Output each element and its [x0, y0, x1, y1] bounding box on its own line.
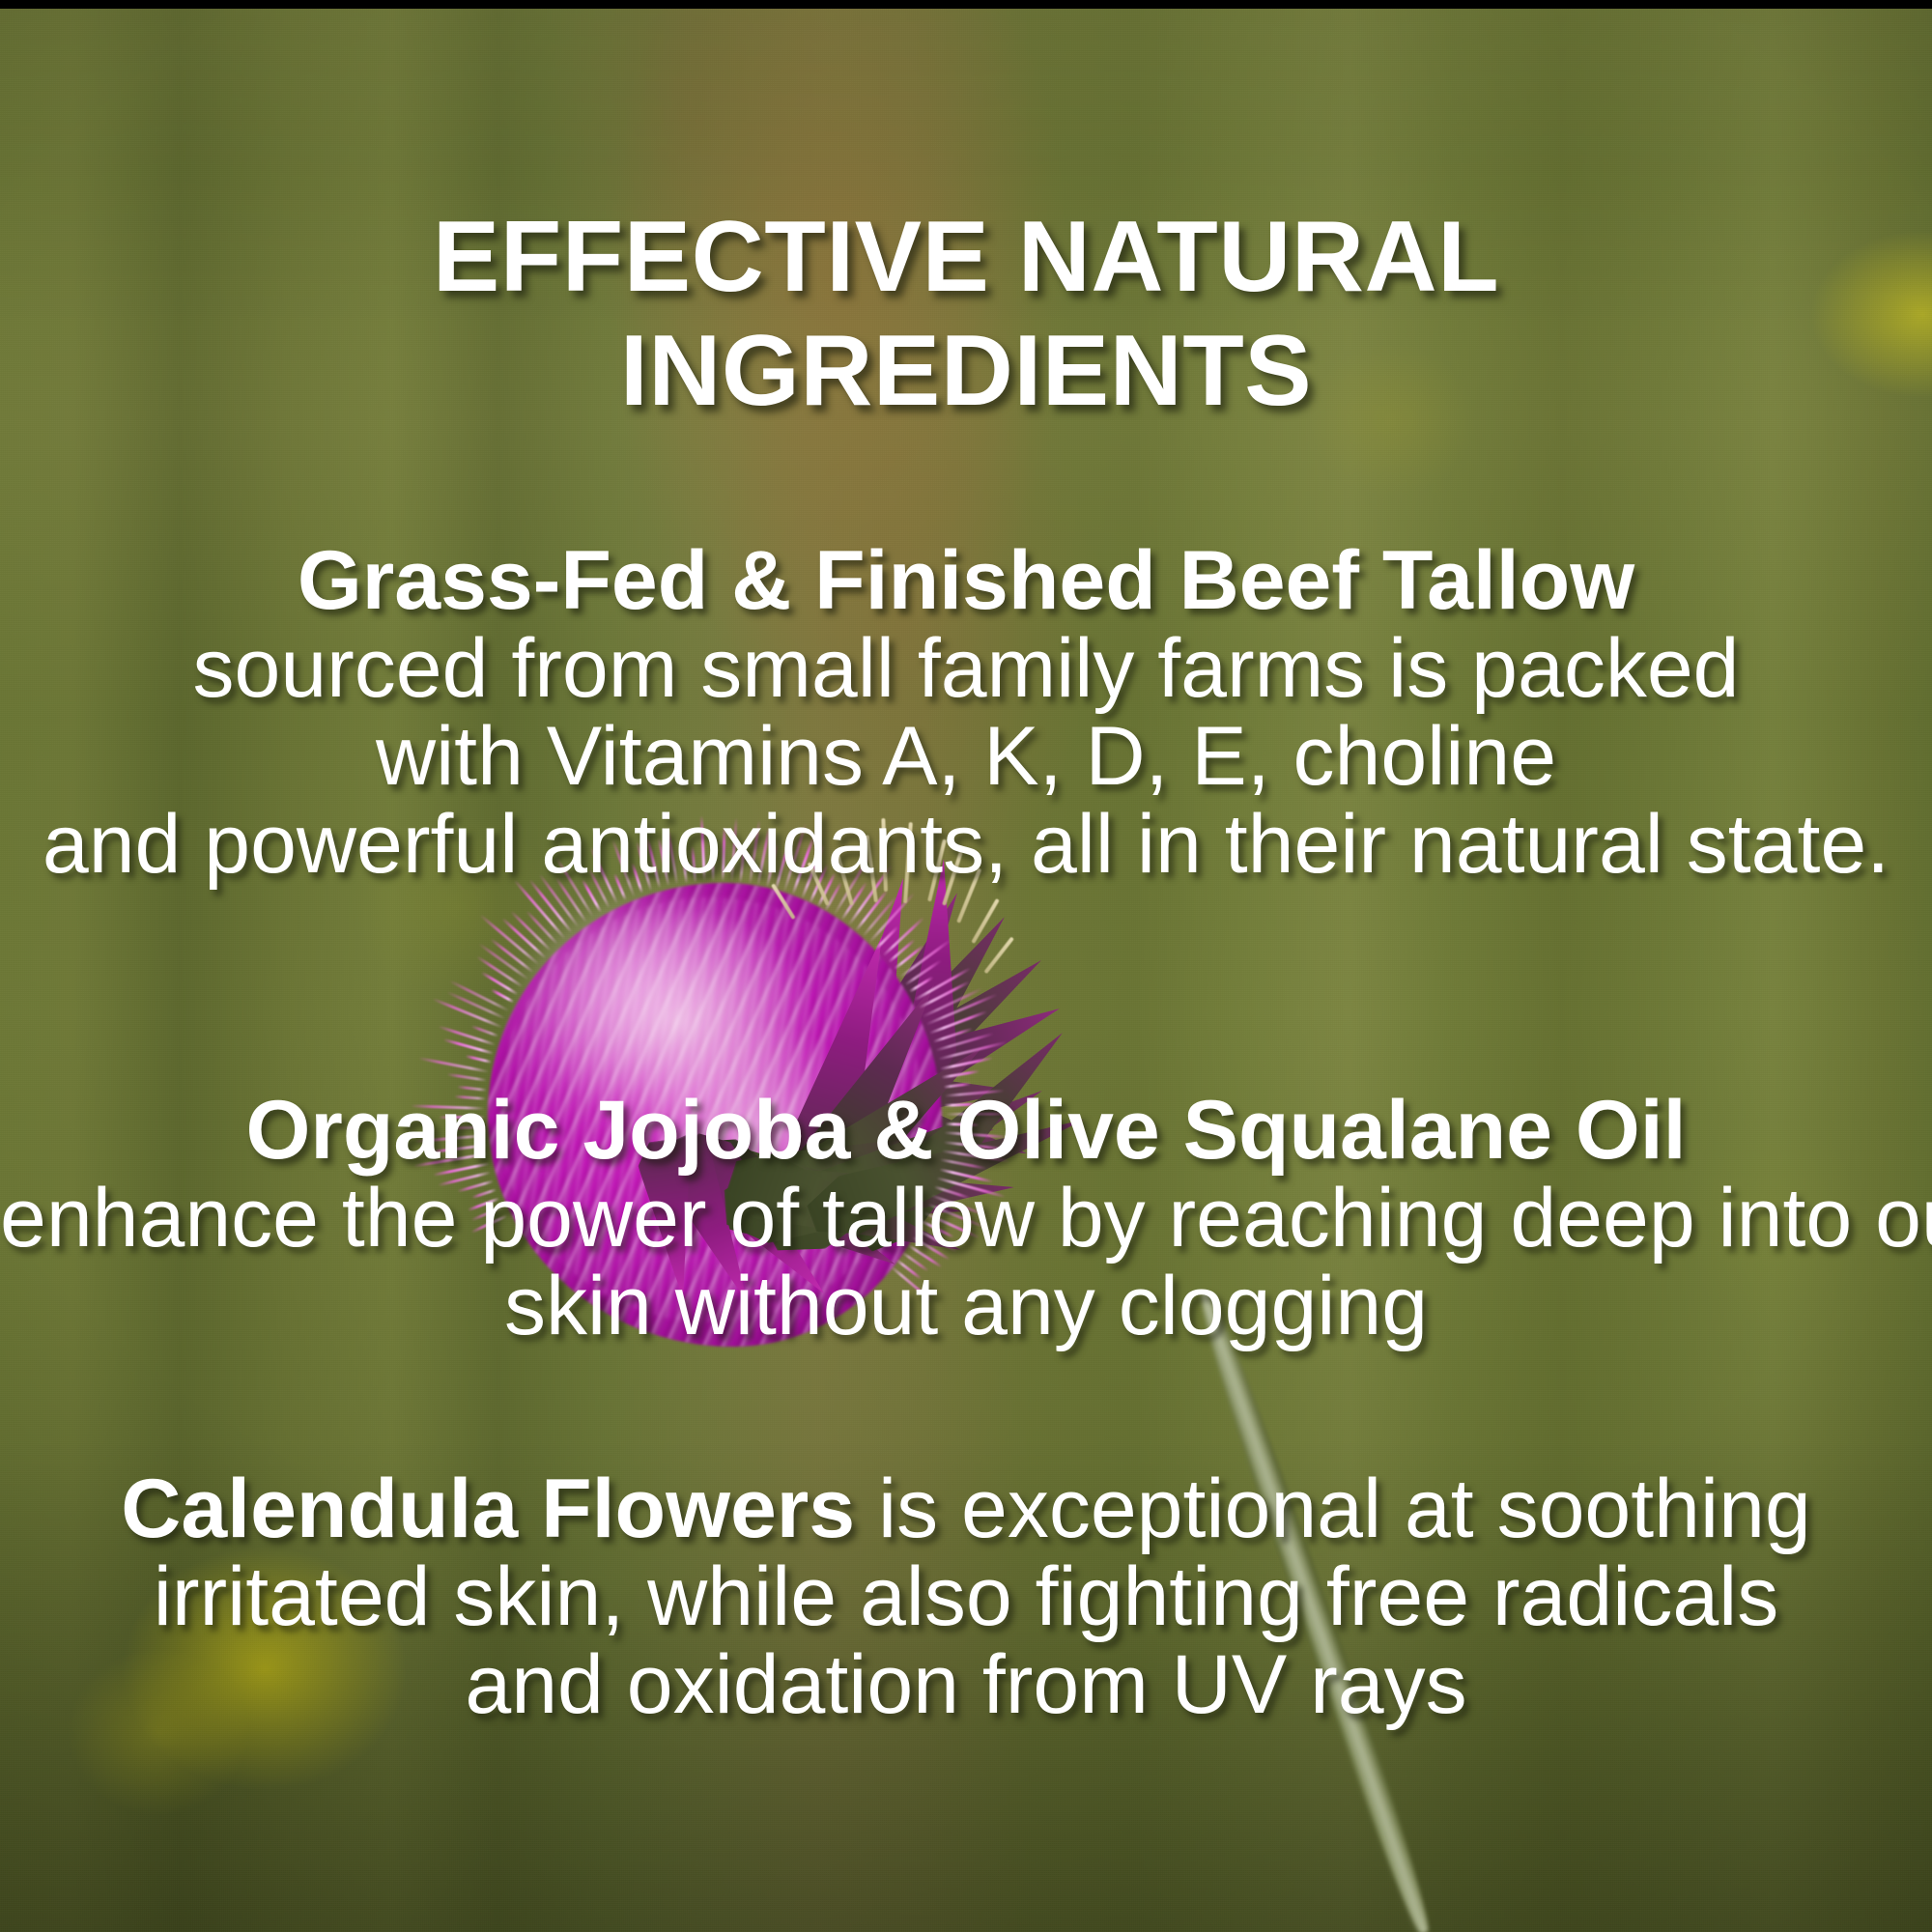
promotional-graphic: EFFECTIVE NATURAL INGREDIENTS Grass-Fed …	[0, 0, 1932, 1932]
paragraph-jojoba-line-2: skin without any clogging	[0, 1263, 1932, 1350]
paragraph-jojoba-line-1: enhance the power of tallow by reaching …	[0, 1175, 1932, 1263]
paragraph-calendula-line-1: irritated skin, while also fighting free…	[0, 1553, 1932, 1641]
paragraph-calendula-line-2: and oxidation from UV rays	[0, 1641, 1932, 1729]
text-overlay: EFFECTIVE NATURAL INGREDIENTS Grass-Fed …	[0, 0, 1932, 1932]
paragraph-jojoba-squalane: Organic Jojoba & Olive Squalane Oil enha…	[0, 1087, 1932, 1350]
page-title-line-1: EFFECTIVE NATURAL	[0, 201, 1932, 315]
calendula-first-line: Calendula Flowers is exceptional at soot…	[0, 1465, 1932, 1553]
paragraph-beef-line-1: sourced from small family farms is packe…	[0, 625, 1932, 713]
calendula-inline-tail: is exceptional at soothing	[855, 1463, 1811, 1555]
heading-jojoba-squalane: Organic Jojoba & Olive Squalane Oil	[0, 1087, 1932, 1175]
heading-calendula: Calendula Flowers	[121, 1463, 855, 1555]
heading-beef-tallow: Grass-Fed & Finished Beef Tallow	[0, 537, 1932, 625]
paragraph-beef-line-3: and powerful antioxidants, all in their …	[0, 801, 1932, 889]
page-title-line-2: INGREDIENTS	[0, 315, 1932, 429]
paragraph-beef-line-2: with Vitamins A, K, D, E, choline	[0, 713, 1932, 801]
paragraph-beef-tallow: Grass-Fed & Finished Beef Tallow sourced…	[0, 537, 1932, 890]
paragraph-calendula: Calendula Flowers is exceptional at soot…	[0, 1465, 1932, 1729]
page-title: EFFECTIVE NATURAL INGREDIENTS	[0, 201, 1932, 428]
